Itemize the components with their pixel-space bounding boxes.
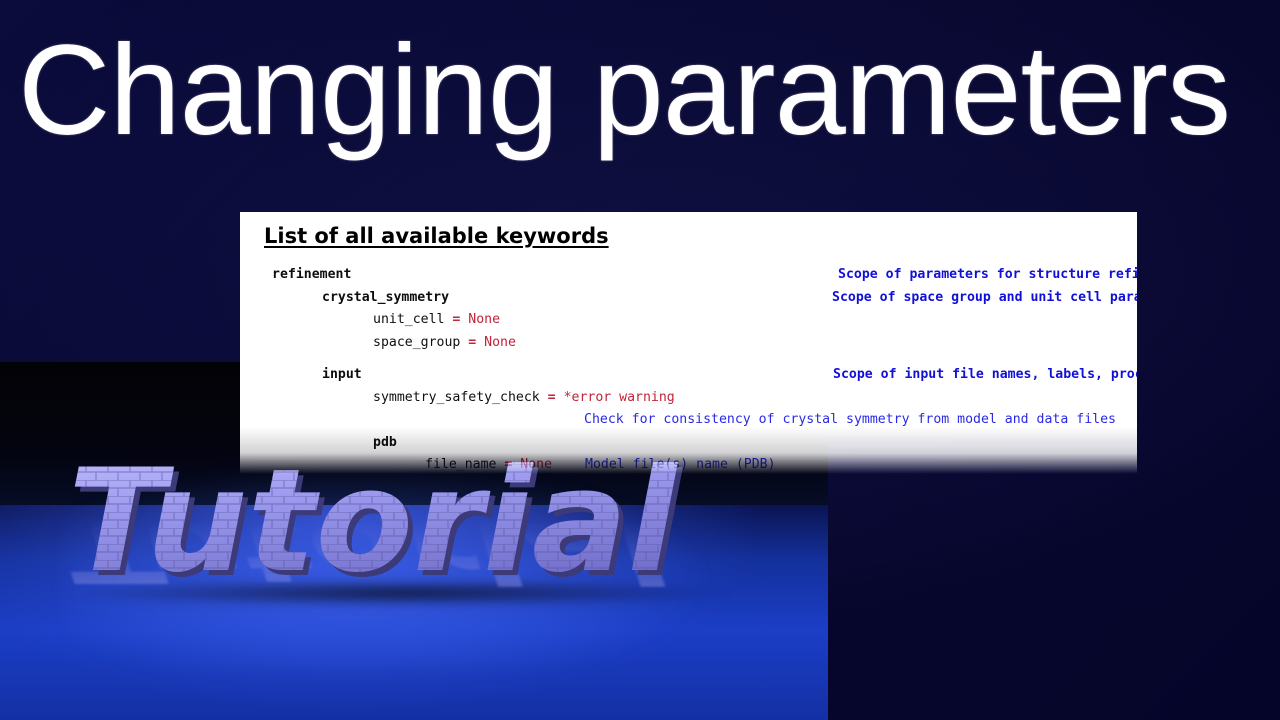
keyword-row: crystal_symmetryScope of space group and… [240,291,1137,314]
keyword-description: Scope of space group and unit cell param… [832,291,1137,304]
keyword-row: unit_cell = None [240,313,1137,336]
equals-sign: = [540,390,564,405]
keyword-assignment: space_group = None [373,336,516,349]
keyword-row: refinementScope of parameters for struct… [240,268,1137,291]
keyword-description: Scope of parameters for structure refine… [838,268,1137,281]
keyword-key: file_name [425,457,496,472]
keyword-scope-name: crystal_symmetry [322,291,449,304]
slide-root: Changing parameters Tutorial [0,0,1280,720]
keyword-key: unit_cell [373,312,444,327]
panel-title: List of all available keywords [264,224,609,248]
equals-sign: = [460,335,484,350]
keyword-value: None [484,335,516,350]
keyword-value: None [468,312,500,327]
equals-sign: = [496,457,520,472]
keyword-key: symmetry_safety_check [373,390,540,405]
keyword-value: *error warning [564,390,675,405]
keyword-assignment: file_name = None [425,458,552,471]
keyword-row: file_name = NoneModel file(s) name (PDB) [240,458,1137,474]
keyword-row: space_group = None [240,336,1137,359]
keyword-description: Model file(s) name (PDB) [585,458,776,471]
equals-sign: = [444,312,468,327]
keyword-row: pdb [240,436,1137,459]
keyword-scope-name: pdb [373,436,397,449]
keyword-key: space_group [373,335,460,350]
keyword-assignment: symmetry_safety_check = *error warning [373,391,675,404]
keyword-description: Scope of input file names, labels, proce… [833,368,1137,381]
keyword-scope-name: input [322,368,362,381]
keyword-value: None [520,457,552,472]
keywords-screenshot-panel: List of all available keywords refinemen… [240,212,1137,474]
keyword-row: inputScope of input file names, labels, … [240,368,1137,391]
keyword-description: Check for consistency of crystal symmetr… [584,413,1116,426]
keyword-row: Check for consistency of crystal symmetr… [240,413,1137,436]
page-title: Changing parameters [18,26,1268,157]
keyword-list: refinementScope of parameters for struct… [240,268,1137,474]
keyword-assignment: unit_cell = None [373,313,500,326]
keyword-row: symmetry_safety_check = *error warning [240,391,1137,414]
keyword-scope-name: refinement [272,268,351,281]
